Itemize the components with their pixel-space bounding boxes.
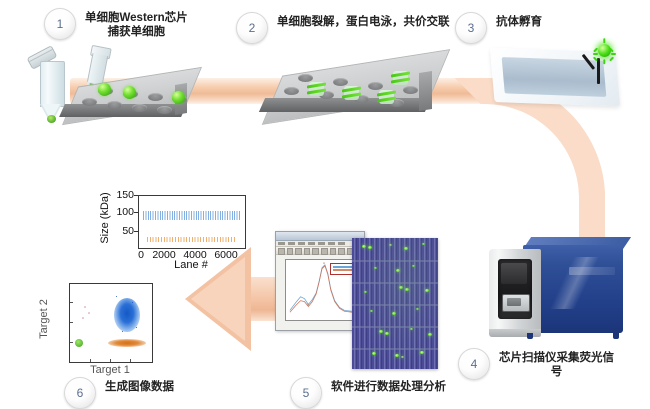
legend-swatch-trace-2 (333, 269, 353, 271)
scatter-point (116, 296, 117, 297)
peak-annotation: B (307, 302, 309, 306)
chip-side-edge (419, 71, 432, 111)
chip-well (82, 98, 97, 106)
ytick-mark (134, 231, 138, 232)
toolbar-icon[interactable] (287, 248, 294, 255)
band-100kda-series (143, 211, 241, 220)
scwest-chip-electrophoresis (262, 64, 442, 126)
ytick-mark (134, 195, 138, 196)
scatter-xtick-mark (110, 359, 111, 362)
step-4-badge: 4 (458, 348, 490, 380)
scanner-display-screen (501, 263, 527, 284)
step-2: 2 单细胞裂解，蛋白电泳，共价交联 (236, 12, 450, 44)
chip-well (368, 82, 383, 90)
scanner-foot (613, 333, 619, 339)
chip-scanner-instrument (487, 237, 637, 347)
scatter-xlabel: Target 1 (69, 364, 151, 376)
scatter-ytick-mark (70, 302, 73, 303)
toolbar-icon[interactable] (338, 248, 345, 255)
step-3-badge: 3 (455, 12, 487, 44)
size-chart-ytick: 50 (110, 225, 134, 237)
toolbar-icon[interactable] (321, 248, 328, 255)
size-chart-plot-area (138, 195, 246, 249)
target1-vs-target2-scatter: Target 2 Target 1 (35, 283, 185, 383)
fluorescence-array-image (352, 238, 438, 369)
single-cell-icon (123, 86, 136, 99)
chip-well (132, 104, 147, 112)
chip-well (284, 87, 299, 95)
peak-trace-plot: A B (285, 259, 360, 321)
scwest-chip-capture (62, 78, 192, 130)
ytick-mark (134, 212, 138, 213)
single-cell-icon (172, 91, 185, 104)
menu-item[interactable] (288, 242, 295, 245)
size-chart-ytick: 100 (110, 206, 134, 218)
step-1-badge: 1 (44, 8, 76, 40)
scatter-xtick-mark (90, 359, 91, 362)
scanner-highlight (545, 257, 603, 309)
size-chart-xlabel: Lane # (138, 259, 244, 271)
window-toolbar[interactable] (276, 247, 364, 255)
toolbar-icon[interactable] (295, 248, 302, 255)
scatter-ylabel: Target 2 (38, 299, 50, 339)
menu-item[interactable] (298, 242, 305, 245)
fluorophore-ray (604, 59, 606, 64)
scatter-point (88, 312, 90, 314)
legend-swatch-trace-1 (333, 266, 353, 268)
single-cell-icon (98, 83, 111, 96)
size-chart-ytick: 150 (110, 189, 134, 201)
menu-item[interactable] (308, 242, 315, 245)
antibody-stem (597, 58, 600, 84)
workflow-diagram: 1 单细胞Western芯片 捕获单细胞 2 (0, 0, 650, 409)
scanner-foot (527, 333, 533, 339)
step-5-badge: 5 (290, 377, 322, 409)
chip-well (148, 93, 163, 101)
toolbar-icon[interactable] (330, 248, 337, 255)
menu-item[interactable] (328, 242, 335, 245)
scatter-ytick-mark (70, 322, 73, 323)
window-title-bar (276, 232, 364, 241)
array-glow-overlay (352, 238, 438, 369)
step-3: 3 抗体孵育 (455, 12, 542, 44)
negative-control-dot (75, 339, 83, 347)
step-3-label: 抗体孵育 (496, 15, 542, 29)
toolbar-icon[interactable] (304, 248, 311, 255)
step-4: 4 芯片扫描仪采集荧光信 号 (458, 348, 643, 380)
scatter-plot-area (69, 283, 153, 363)
cell-pellet-icon (47, 115, 56, 123)
chip-well (107, 101, 122, 109)
step-4-label: 芯片扫描仪采集荧光信 号 (499, 351, 614, 379)
fluorophore-icon (598, 44, 611, 57)
fluorophore-ray (611, 53, 616, 55)
chip-well (298, 74, 313, 82)
menu-item[interactable] (318, 242, 325, 245)
scatter-point (82, 317, 84, 319)
step-2-badge: 2 (236, 12, 268, 44)
scatter-ytick-mark (70, 342, 73, 343)
fluorophore-ray (609, 56, 614, 61)
antibody-incubation-tray (492, 50, 622, 116)
fluorophore-ray (593, 53, 598, 55)
band-22kda-series (147, 237, 235, 242)
size-vs-lane-chart: Size (kDa) 150 100 50 0 2000 4000 6000 L… (92, 193, 257, 271)
target1-only-population (108, 339, 146, 347)
scatter-xtick-mark (130, 359, 131, 362)
menu-item[interactable] (338, 242, 345, 245)
scanner-base (489, 329, 541, 337)
step-1: 1 单细胞Western芯片 捕获单细胞 (44, 8, 188, 40)
antibody-icon (578, 46, 618, 90)
step-5: 5 软件进行数据处理分析 (290, 377, 446, 409)
toolbar-icon[interactable] (278, 248, 285, 255)
scatter-point (136, 327, 137, 328)
step-6-label: 生成图像数据 (105, 380, 174, 394)
chip-well (157, 106, 172, 114)
step-5-label: 软件进行数据处理分析 (331, 380, 446, 394)
fluorophore-ray (604, 38, 606, 43)
toolbar-icon[interactable] (312, 248, 319, 255)
scanner-chip-slot-opening (507, 298, 521, 306)
step-6: 6 生成图像数据 (64, 377, 174, 409)
scatter-point (84, 306, 86, 308)
menu-item[interactable] (278, 242, 285, 245)
chip-well (333, 78, 348, 86)
chip-well (403, 86, 418, 94)
peak-annotation: A (323, 261, 325, 265)
step-6-badge: 6 (64, 377, 96, 409)
step-1-label: 单细胞Western芯片 捕获单细胞 (85, 11, 188, 39)
step-2-label: 单细胞裂解，蛋白电泳，共价交联 (277, 15, 450, 29)
chip-front-edge (259, 98, 431, 112)
